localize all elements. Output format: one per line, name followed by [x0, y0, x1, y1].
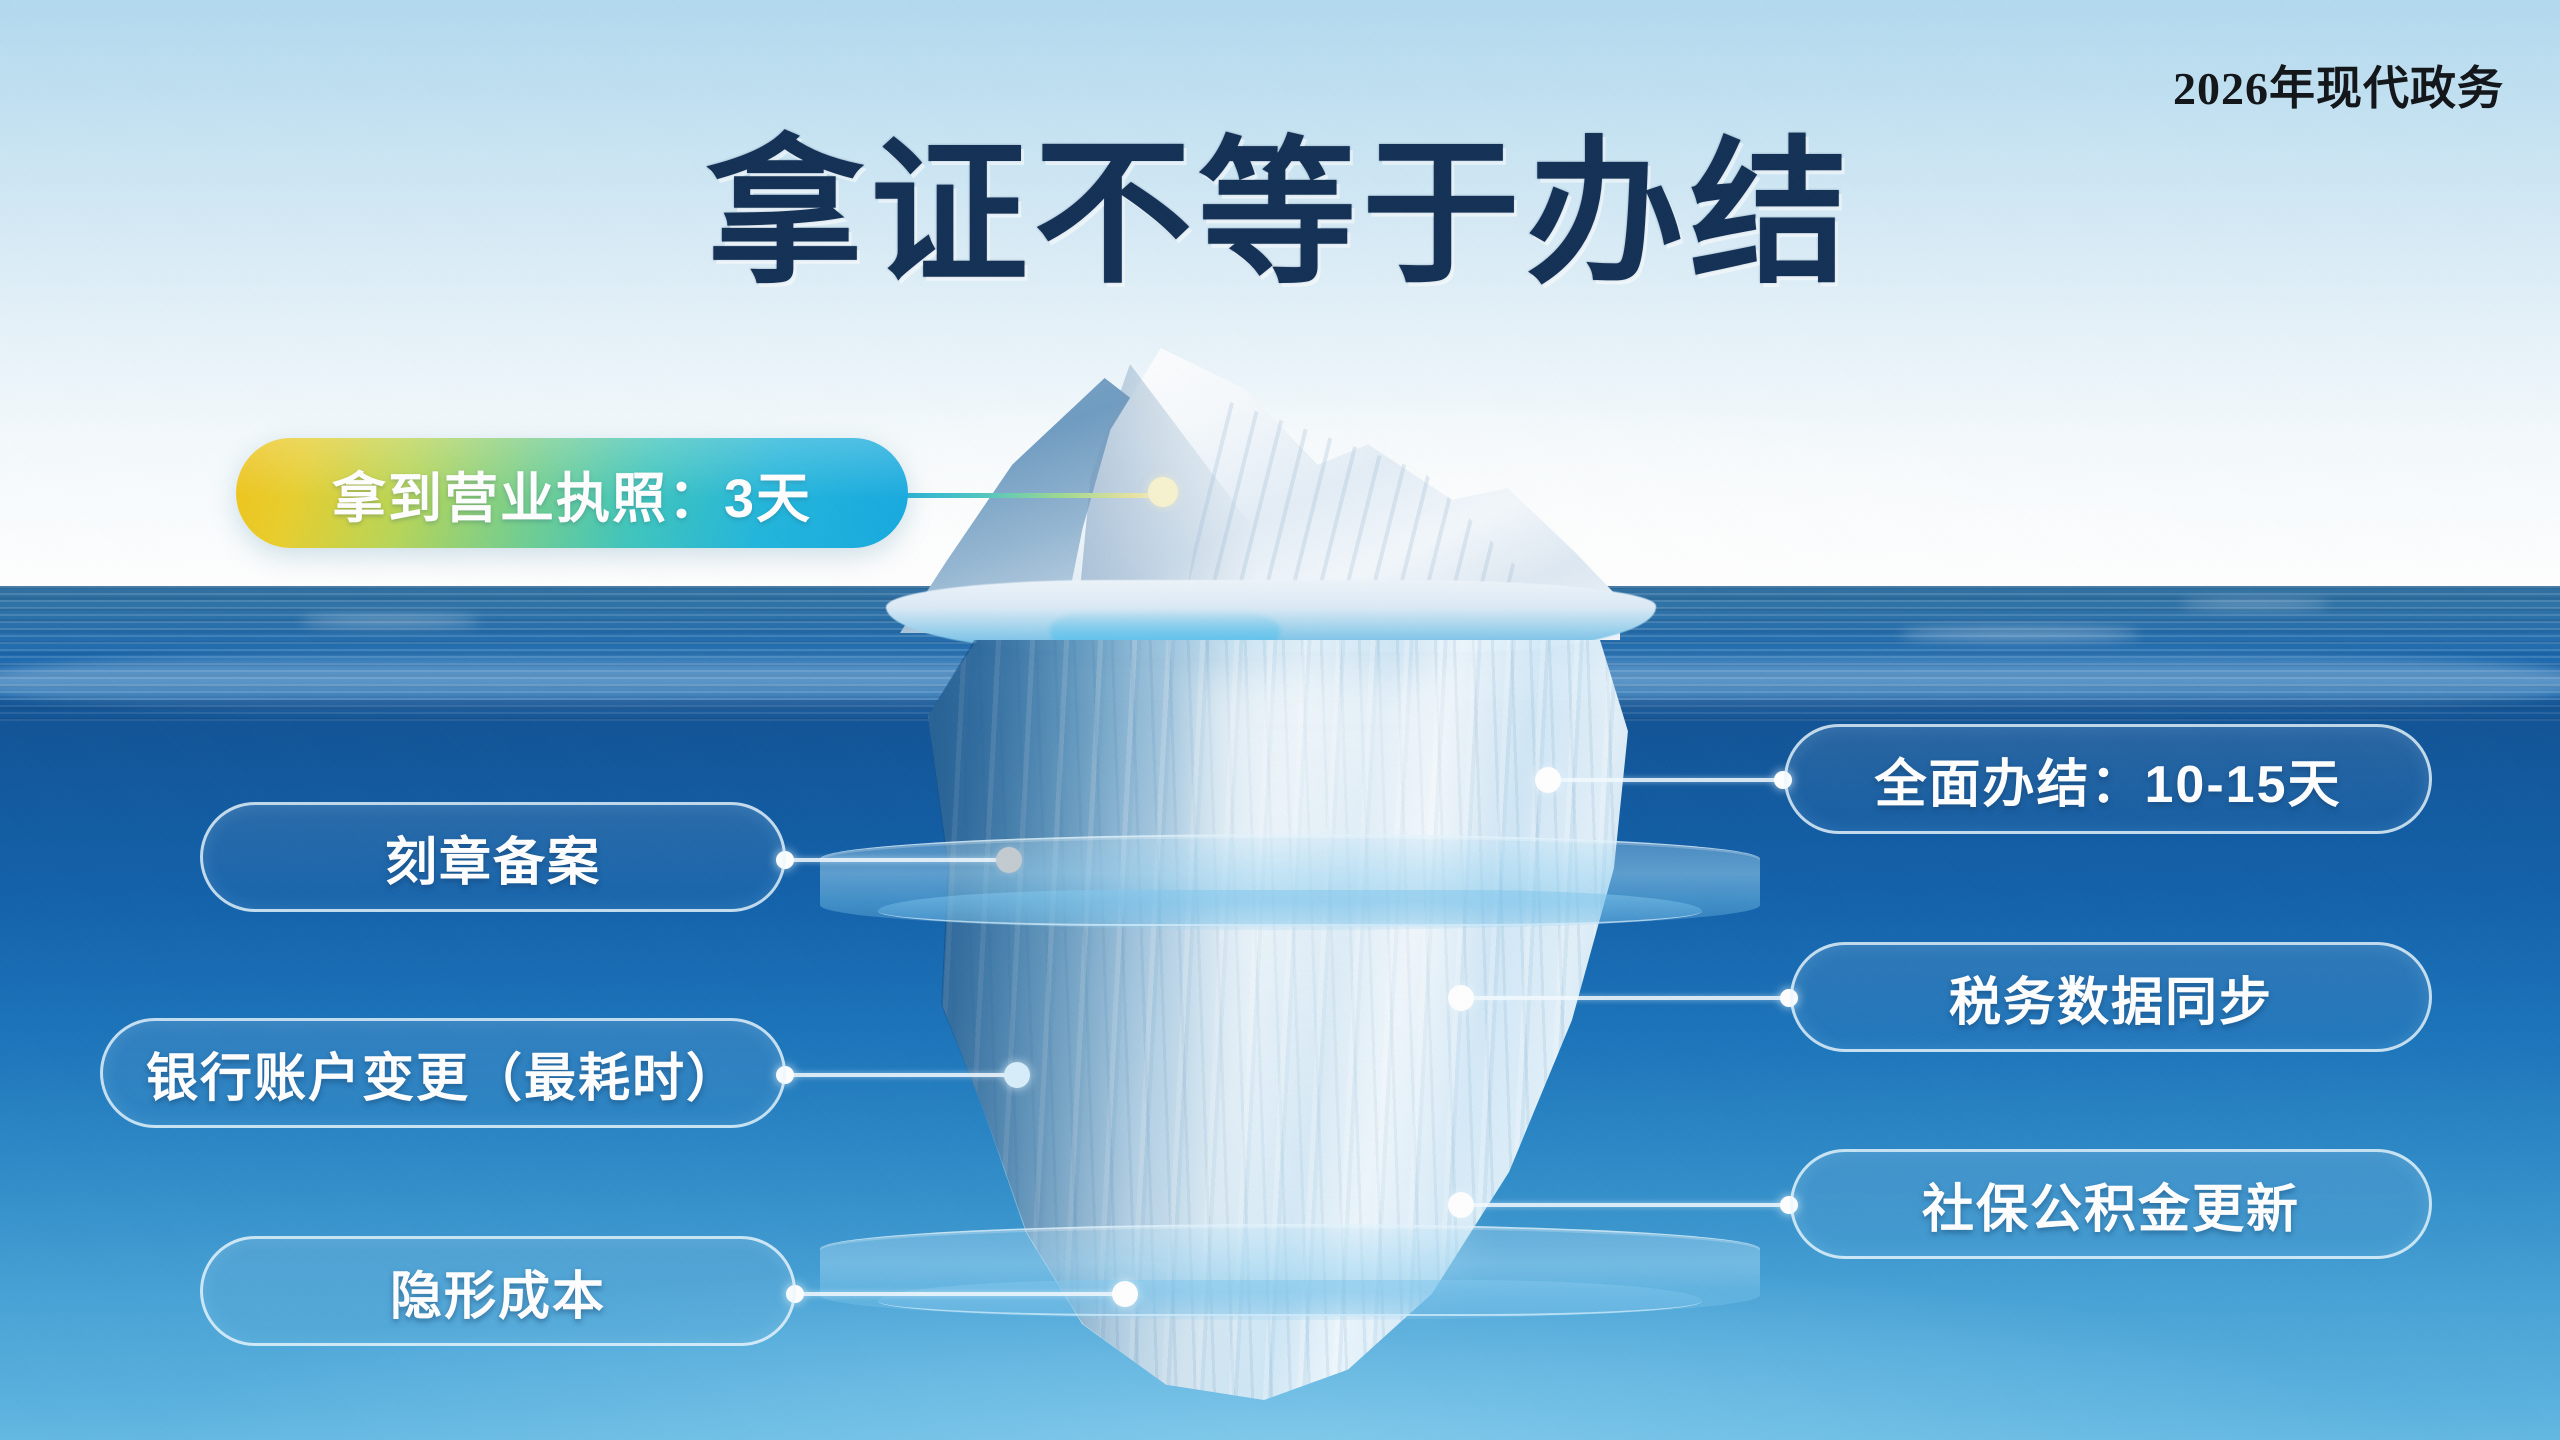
hidden-stage-label: 社保公积金更新 [1922, 1167, 2300, 1242]
hidden-stage-pill-right-3[interactable]: 社保公积金更新 [1790, 1149, 2432, 1259]
stage-pill-visible-label: 拿到营业执照：3天 [332, 454, 812, 533]
hidden-stage-label: 银行账户变更（最耗时） [146, 1036, 740, 1111]
water-glint [300, 616, 480, 626]
water-glint [2180, 600, 2330, 608]
stage-pill-visible[interactable]: 拿到营业执照：3天 [236, 438, 908, 548]
iceberg-inner-glow [1200, 678, 1460, 1298]
connector-dot-icon [1004, 1062, 1030, 1088]
connector-line-left-1 [786, 858, 1008, 862]
hidden-stage-pill-left-1[interactable]: 刻章备案 [200, 802, 786, 912]
hidden-stage-pill-left-3[interactable]: 隐形成本 [200, 1236, 796, 1346]
connector-dot-icon [1448, 985, 1474, 1011]
hidden-stage-pill-right-1[interactable]: 全面办结：10-15天 [1784, 724, 2432, 834]
hidden-stage-label: 税务数据同步 [1949, 960, 2273, 1035]
connector-dot-icon [1535, 767, 1561, 793]
water-glint [1900, 628, 2140, 640]
connector-line-visible-stage [900, 493, 1162, 498]
hidden-stage-label: 隐形成本 [390, 1254, 606, 1329]
connector-dot-icon [1148, 477, 1178, 507]
connector-line-right-3 [1470, 1203, 1790, 1207]
connector-line-right-2 [1470, 996, 1790, 1000]
connector-line-left-3 [796, 1292, 1126, 1296]
hidden-stage-label: 刻章备案 [385, 820, 601, 895]
iceberg-divider-band [820, 834, 1760, 930]
connector-dot-icon [996, 847, 1022, 873]
corner-tag: 2026年现代政务 [2173, 52, 2504, 118]
hidden-stage-pill-right-2[interactable]: 税务数据同步 [1790, 942, 2432, 1052]
connector-line-left-2 [786, 1073, 1016, 1077]
connector-line-right-1 [1555, 778, 1783, 782]
connector-dot-icon [1448, 1192, 1474, 1218]
iceberg-divider-band [820, 1224, 1760, 1320]
iceberg [880, 348, 1680, 1408]
infographic-canvas: 拿证不等于办结 2026年现代政务 拿到营业执照：3天 刻章备案 银行账户变更（… [0, 0, 2560, 1440]
hidden-stage-pill-left-2[interactable]: 银行账户变更（最耗时） [100, 1018, 786, 1128]
page-title: 拿证不等于办结 [0, 132, 2560, 298]
connector-dot-icon [1112, 1281, 1138, 1307]
hidden-stage-label: 全面办结：10-15天 [1875, 742, 2342, 817]
